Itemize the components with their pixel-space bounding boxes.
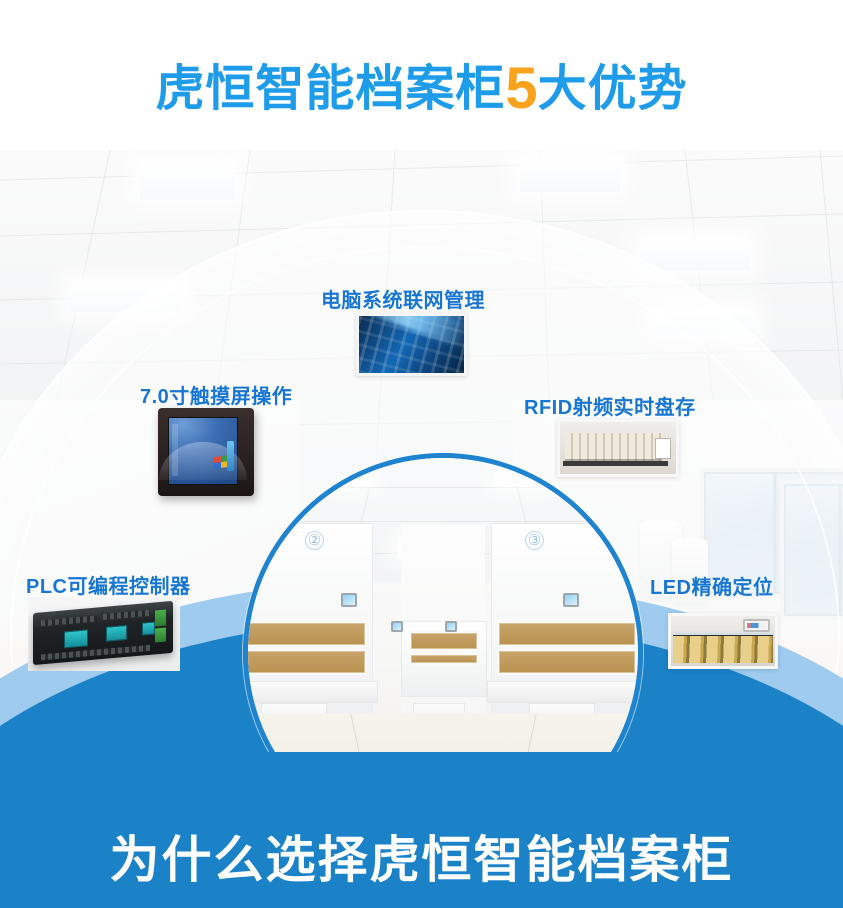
page-title-part1: 虎恒智能档案柜 bbox=[155, 62, 505, 116]
led-monitor-icon bbox=[743, 619, 770, 632]
plc-display bbox=[63, 629, 87, 649]
cabinet-right-shelf bbox=[497, 649, 637, 675]
ceiling-light-panel bbox=[655, 308, 755, 334]
promo-poster: 虎恒智能档案柜5大优势 bbox=[0, 0, 843, 908]
cabinet-left-shelf bbox=[243, 649, 367, 675]
keyboard-glint bbox=[356, 313, 467, 349]
plc-connector bbox=[154, 628, 165, 643]
plc-display bbox=[142, 621, 155, 636]
plc-module-photo bbox=[28, 597, 180, 671]
rfid-file-row bbox=[565, 433, 662, 462]
led-folder-row-photo bbox=[668, 613, 778, 669]
bottom-banner-fill bbox=[0, 752, 843, 812]
feature-label-rfid-realtime-inventory: RFID射频实时盘存 bbox=[524, 391, 696, 420]
page-title-part2: 大优势 bbox=[538, 62, 688, 116]
feature-label-computer-network-management: 电脑系统联网管理 bbox=[321, 284, 485, 313]
cabinet-number-3: ③ bbox=[525, 531, 544, 550]
cabinet-right-shelf bbox=[497, 621, 637, 647]
corridor-cabinet-shelf bbox=[409, 653, 479, 665]
plc-terminal-row bbox=[41, 616, 97, 627]
office-window bbox=[780, 480, 843, 620]
room-light-panel bbox=[321, 471, 373, 487]
rfid-reader-box bbox=[655, 438, 671, 460]
ceiling-light-panel bbox=[640, 238, 750, 270]
rfid-file-rack-photo bbox=[557, 419, 679, 477]
corridor-cabinet-screen bbox=[391, 621, 403, 632]
room-ceiling-line bbox=[243, 487, 643, 488]
page-title: 虎恒智能档案柜5大优势 bbox=[0, 57, 843, 115]
plc-terminal-row bbox=[102, 610, 150, 620]
keyboard-photo bbox=[356, 313, 467, 376]
touchscreen-display bbox=[168, 417, 238, 485]
ceiling-light-panel bbox=[70, 282, 180, 312]
cabinet-number-2: ② bbox=[305, 531, 324, 550]
plc-housing bbox=[33, 601, 173, 665]
touchscreen-side-buttons bbox=[227, 441, 234, 471]
cabinet-right-screen bbox=[563, 593, 579, 607]
corridor-cabinet-shelf bbox=[409, 631, 479, 651]
cabinet-left-desk bbox=[243, 681, 378, 703]
ceiling-light-panel bbox=[140, 164, 235, 200]
room-light-panel bbox=[495, 471, 547, 487]
led-folder-row bbox=[673, 636, 773, 663]
cabinet-right-desk bbox=[487, 681, 643, 703]
cabinet-left-shelf bbox=[243, 621, 367, 647]
touchscreen-panel-photo bbox=[158, 408, 254, 496]
rfid-rail bbox=[563, 461, 667, 466]
cabinet-left-screen bbox=[341, 593, 357, 607]
plc-connector bbox=[154, 610, 165, 627]
plc-terminal-row bbox=[41, 645, 150, 660]
ceiling-light-panel bbox=[520, 158, 620, 192]
feature-label-touchscreen-operation: 7.0寸触摸屏操作 bbox=[140, 380, 292, 409]
corridor-cabinet-screen bbox=[445, 621, 457, 632]
page-title-number: 5 bbox=[505, 56, 537, 121]
feature-label-led-precise-positioning: LED精确定位 bbox=[650, 571, 774, 600]
feature-label-plc-programmable-controller: PLC可编程控制器 bbox=[26, 570, 191, 599]
plc-display bbox=[105, 625, 126, 642]
bottom-banner-text: 为什么选择虎恒智能档案柜 bbox=[110, 835, 734, 885]
bottom-banner: 为什么选择虎恒智能档案柜 bbox=[0, 812, 843, 908]
room-ceiling-line bbox=[243, 521, 643, 522]
